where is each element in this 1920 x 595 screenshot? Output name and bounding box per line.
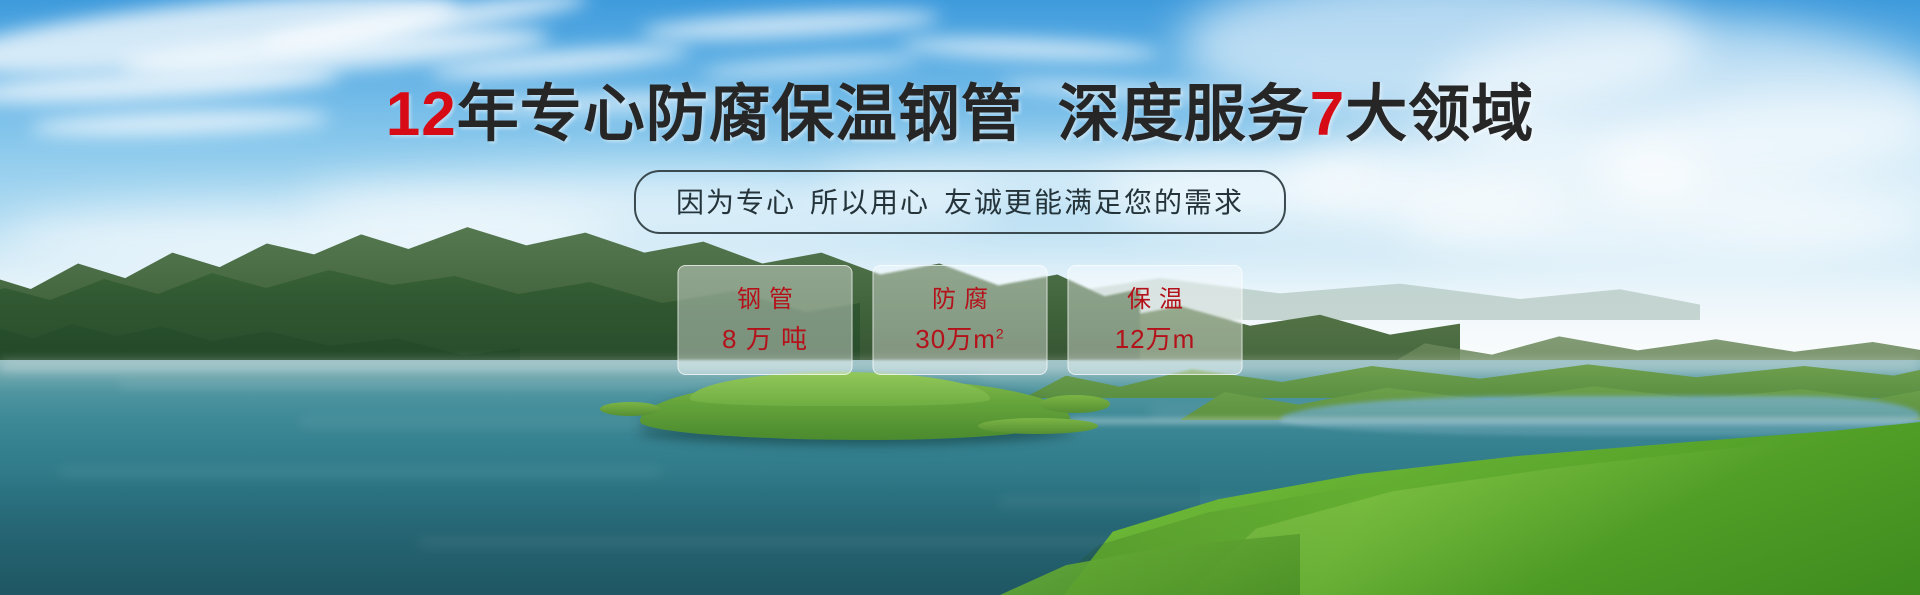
cloud-wisp bbox=[640, 6, 941, 44]
shoreline bbox=[1020, 418, 1920, 424]
stat-card-title: 保温 bbox=[1119, 288, 1191, 312]
headline-fields-number: 7 bbox=[1310, 80, 1345, 149]
cloud-wisp bbox=[900, 35, 1160, 62]
stat-card-value-text: 30万m bbox=[915, 324, 996, 354]
subtitle-part-1: 因为专心 bbox=[676, 187, 796, 218]
hero-banner: 12年专心防腐保温钢管深度服务7大领域 因为专心所以用心友诚更能满足您的需求 钢… bbox=[0, 0, 1920, 595]
stat-card-insulation[interactable]: 保温 12万m bbox=[1068, 265, 1243, 375]
stat-card-value: 8 万 吨 bbox=[722, 326, 808, 352]
headline-segment-2: 深度服务 bbox=[1058, 80, 1310, 149]
water-shadow bbox=[0, 470, 1200, 595]
marsh-pool bbox=[1280, 396, 1920, 436]
stat-card-title: 防腐 bbox=[924, 288, 996, 312]
grass-tuft bbox=[1040, 395, 1110, 413]
headline-segment-1: 年专心防腐保温钢管 bbox=[457, 80, 1024, 149]
grass-tuft bbox=[600, 402, 660, 416]
banner-headline: 12年专心防腐保温钢管深度服务7大领域 bbox=[0, 84, 1920, 146]
cloud-wisp bbox=[700, 52, 920, 79]
subtitle-part-2: 所以用心 bbox=[810, 187, 930, 218]
subtitle-part-3: 友诚更能满足您的需求 bbox=[944, 187, 1244, 218]
stat-card-anticorrosion[interactable]: 防腐 30万m2 bbox=[873, 265, 1048, 375]
stat-card-group: 钢管 8 万 吨 防腐 30万m2 保温 12万m bbox=[678, 265, 1243, 375]
subtitle-pill: 因为专心所以用心友诚更能满足您的需求 bbox=[634, 170, 1286, 234]
stat-card-value-text: 8 万 吨 bbox=[722, 324, 808, 354]
headline-years-number: 12 bbox=[386, 80, 457, 149]
stat-card-title: 钢管 bbox=[729, 288, 801, 312]
stat-card-value: 30万m2 bbox=[915, 326, 1004, 352]
stat-card-value-text: 12万m bbox=[1115, 324, 1196, 354]
headline-segment-3: 大领域 bbox=[1345, 80, 1534, 149]
stat-card-value-superscript: 2 bbox=[996, 325, 1005, 341]
grass-tuft bbox=[978, 418, 1098, 434]
stat-card-value: 12万m bbox=[1115, 326, 1196, 352]
stat-card-steel-pipe[interactable]: 钢管 8 万 吨 bbox=[678, 265, 853, 375]
